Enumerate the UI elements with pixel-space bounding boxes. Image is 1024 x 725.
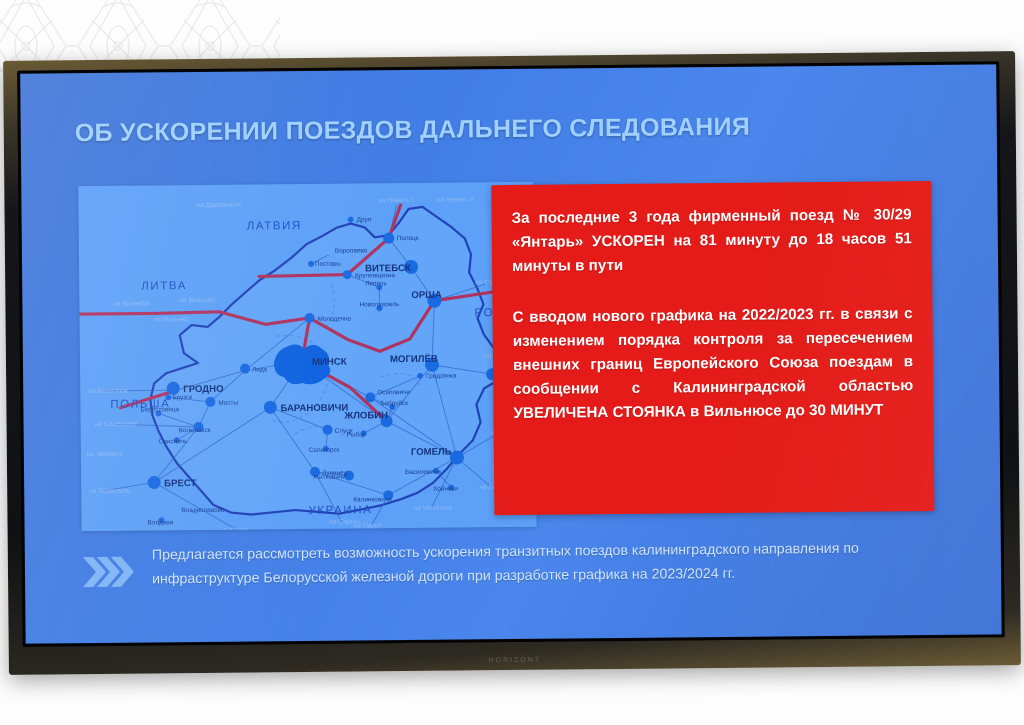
svg-text:БРЕСТ: БРЕСТ [164, 478, 196, 489]
svg-text:ГОМЕЛЬ: ГОМЕЛЬ [411, 447, 452, 458]
svg-text:на Невель I: на Невель I [378, 197, 413, 204]
svg-text:на Белосток: на Белосток [88, 388, 129, 395]
svg-text:Волковыск: Волковыск [179, 427, 211, 434]
svg-text:на Даугавпилс: на Даугавпилс [196, 202, 242, 209]
slide-footer: Предлагается рассмотреть возможность уск… [82, 537, 955, 594]
svg-text:Молодечно: Молодечно [318, 316, 352, 323]
svg-text:МОГИЛЁВ: МОГИЛЁВ [390, 354, 438, 365]
callout-paragraph-2: С вводом нового графика на 2022/2023 гг.… [512, 302, 913, 426]
svg-text:Житковичи: Житковичи [313, 474, 346, 481]
svg-text:Берестовица: Берестовица [140, 406, 179, 413]
callout-paragraph-1: За последние 3 года фирменный поезд № 30… [512, 203, 913, 279]
svg-text:ЖЛОБИН: ЖЛОБИН [343, 410, 388, 421]
display-bezel: ОБ УСКОРЕНИИ ПОЕЗДОВ ДАЛЬНЕГО СЛЕДОВАНИЯ [3, 51, 1021, 675]
svg-text:Полоцк: Полоцк [397, 235, 419, 242]
svg-text:на Ковель: на Ковель [220, 527, 251, 532]
svg-text:на Вильнюс: на Вильнюс [154, 316, 191, 323]
svg-text:на Вильнюс: на Вильнюс [179, 297, 216, 304]
svg-text:на Тересполь: на Тересполь [89, 488, 131, 495]
svg-text:Рыбцк: Рыбцк [347, 430, 366, 438]
svg-text:Хойники: Хойники [433, 485, 458, 493]
svg-text:ЛИТВА: ЛИТВА [141, 280, 187, 292]
svg-text:Бобруйск: Бобруйск [380, 399, 408, 407]
svg-text:Гродзянка: Гродзянка [426, 373, 457, 380]
svg-text:на Черемху: на Черемху [87, 451, 123, 458]
display-screen: ОБ УСКОРЕНИИ ПОЕЗДОВ ДАЛЬНЕГО СЛЕДОВАНИЯ [17, 61, 1004, 646]
svg-text:МИНСК: МИНСК [312, 357, 347, 368]
svg-text:Свислочь: Свислочь [159, 438, 188, 445]
svg-text:Влодава: Влодава [147, 519, 173, 526]
svg-text:на Чернигов: на Чернигов [413, 505, 452, 512]
svg-text:Солигорск: Солигорск [309, 447, 340, 454]
footer-text: Предлагается рассмотреть возможность уск… [152, 537, 947, 592]
svg-text:Крулевщизна: Крулевщизна [355, 272, 395, 279]
triple-chevron-right-icon [82, 545, 134, 594]
svg-text:БАРАНОВИЧИ: БАРАНОВИЧИ [280, 403, 348, 415]
svg-text:Осиповичи: Осиповичи [377, 389, 410, 396]
svg-text:на Сарны: на Сарны [329, 518, 359, 525]
svg-text:Воропаево: Воропаево [335, 247, 368, 254]
svg-text:на Семенувку: на Семенувку [95, 421, 138, 428]
svg-text:Друя: Друя [357, 216, 372, 223]
page-title: ОБ УСКОРЕНИИ ПОЕЗДОВ ДАЛЬНЕГО СЛЕДОВАНИЯ [75, 113, 751, 148]
belarus-railway-map: ЛАТВИЯЛИТВА РОССИЯПОЛЬША УКРАИНА МИНСК В… [78, 182, 536, 531]
svg-text:Лида: Лида [252, 366, 268, 373]
red-callout-panel: За последние 3 года фирменный поезд № 30… [491, 181, 934, 515]
display-brand-label: HORIZONT [9, 652, 1021, 669]
svg-text:ЛАТВИЯ: ЛАТВИЯ [247, 220, 302, 233]
svg-text:на Невель II: на Невель II [436, 196, 473, 203]
svg-text:Новолукомль: Новолукомль [359, 301, 399, 308]
svg-text:Владиславово: Владиславово [181, 507, 225, 514]
svg-text:ОРША: ОРША [411, 290, 442, 301]
svg-text:УКРАИНА: УКРАИНА [308, 504, 372, 517]
svg-text:Брузги: Брузги [172, 394, 192, 401]
presentation-slide: ОБ УСКОРЕНИИ ПОЕЗДОВ ДАЛЬНЕГО СЛЕДОВАНИЯ [20, 64, 1001, 643]
svg-text:Лепель: Лепель [365, 280, 387, 287]
svg-text:Мосты: Мосты [218, 400, 238, 407]
svg-text:на Витебск: на Витебск [113, 299, 150, 307]
svg-text:Поставы: Поставы [315, 261, 341, 268]
svg-text:Калинковичи: Калинковичи [353, 496, 392, 503]
svg-text:Василевичи: Василевичи [405, 469, 441, 476]
